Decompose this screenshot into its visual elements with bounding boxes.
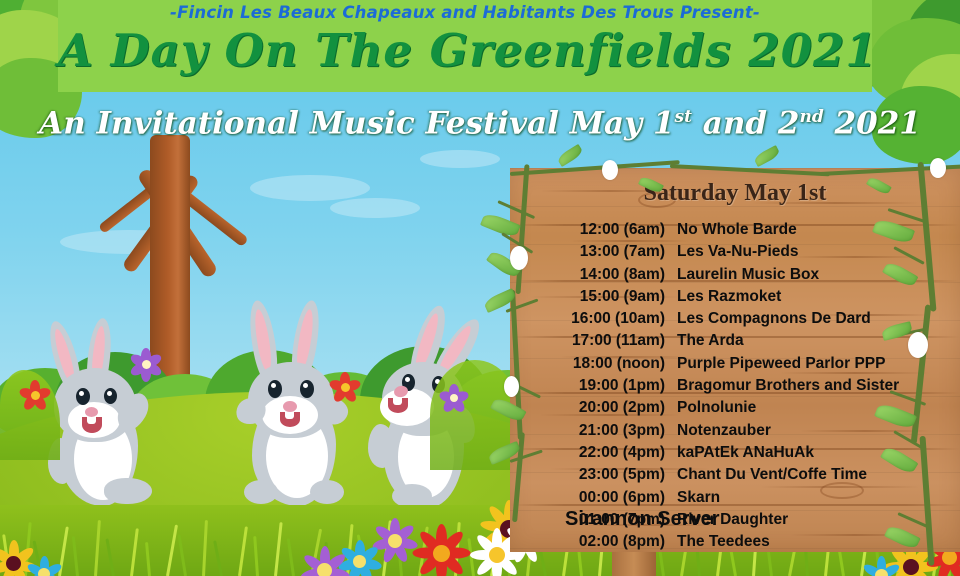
schedule-time: 23:00 (5pm) xyxy=(510,464,665,486)
page-title: A Day On The Greenfields 2021 xyxy=(58,22,872,80)
subtitle-pre: An Invitational Music Festival May 1 xyxy=(39,105,674,141)
schedule-row: 22:00 (4pm)kaPAtEk ANaHuAk xyxy=(510,442,960,464)
schedule-band: Chant Du Vent/Coffe Time xyxy=(677,464,867,486)
cloud-2 xyxy=(330,198,420,218)
schedule-row: 00:00 (6pm)Skarn xyxy=(510,487,960,509)
flower-purple-bottom-2 xyxy=(300,546,350,576)
board-day-header: Saturday May 1st xyxy=(510,180,960,207)
flower-purple-mid xyxy=(440,384,468,412)
server-name: Sirannon Server xyxy=(565,508,720,531)
schedule-time: 18:00 (noon) xyxy=(510,353,665,375)
flower-red-mid xyxy=(330,372,360,402)
subtitle: An Invitational Music Festival May 1st a… xyxy=(0,97,960,143)
schedule-time: 13:00 (7am) xyxy=(510,241,665,263)
subtitle-mid: and 2 xyxy=(692,105,799,141)
schedule-band: Les Va-Nu-Pieds xyxy=(677,241,798,263)
schedule-band: The Teedees xyxy=(677,531,770,553)
schedule-time: 19:00 (1pm) xyxy=(510,375,665,397)
schedule-row: 12:00 (6am)No Whole Barde xyxy=(510,219,960,241)
schedule-band: Les Compagnons De Dard xyxy=(677,308,871,330)
schedule-row: 15:00 (9am)Les Razmoket xyxy=(510,286,960,308)
schedule-time: 17:00 (11am) xyxy=(510,330,665,352)
schedule-row: 23:00 (5pm)Chant Du Vent/Coffe Time xyxy=(510,464,960,486)
schedule-time: 02:00 (8pm) xyxy=(510,531,665,553)
schedule-band: Purple Pipeweed Parlor PPP xyxy=(677,353,885,375)
schedule-row: 02:00 (8pm)The Teedees xyxy=(510,531,960,553)
schedule-time: 14:00 (8am) xyxy=(510,264,665,286)
festival-poster: Saturday May 1st 12:00 (6am)No Whole Bar… xyxy=(0,0,960,576)
schedule-row: 21:00 (3pm)Notenzauber xyxy=(510,420,960,442)
schedule-row: 18:00 (noon)Purple Pipeweed Parlor PPP xyxy=(510,353,960,375)
schedule-band: The Arda xyxy=(677,330,744,352)
schedule-band: Skarn xyxy=(677,487,720,509)
flower-blue-right xyxy=(862,556,902,576)
schedule-time: 12:00 (6am) xyxy=(510,219,665,241)
subtitle-sup-2: nd xyxy=(799,107,823,127)
schedule-time: 15:00 (9am) xyxy=(510,286,665,308)
schedule-list: 12:00 (6am)No Whole Barde 13:00 (7am)Les… xyxy=(510,219,960,553)
flower-red-left xyxy=(20,380,50,410)
schedule-band: No Whole Barde xyxy=(677,219,797,241)
cloud-1 xyxy=(250,175,370,201)
subtitle-sup-1: st xyxy=(675,107,692,127)
schedule-row: 17:00 (11am)The Arda xyxy=(510,330,960,352)
schedule-time: 00:00 (6pm) xyxy=(510,487,665,509)
schedule-row: 13:00 (7am)Les Va-Nu-Pieds xyxy=(510,241,960,263)
schedule-time: 16:00 (10am) xyxy=(510,308,665,330)
schedule-time: 21:00 (3pm) xyxy=(510,420,665,442)
subtitle-post: 2021 xyxy=(824,105,921,141)
flower-red-bottom xyxy=(412,524,470,576)
presenters-line: -Fincin Les Beaux Chapeaux and Habitants… xyxy=(58,3,872,22)
schedule-row: 20:00 (2pm)Polnolunie xyxy=(510,397,960,419)
grass-tuft-right xyxy=(430,360,520,470)
schedule-time: 22:00 (4pm) xyxy=(510,442,665,464)
schedule-band: Laurelin Music Box xyxy=(677,264,819,286)
flower-purple-top xyxy=(130,348,162,380)
flower-blue-left-edge xyxy=(26,556,64,576)
schedule-band: Bragomur Brothers and Sister xyxy=(677,375,899,397)
schedule-time: 20:00 (2pm) xyxy=(510,397,665,419)
schedule-band: Notenzauber xyxy=(677,420,771,442)
schedule-band: Les Razmoket xyxy=(677,286,781,308)
schedule-row: 16:00 (10am)Les Compagnons De Dard xyxy=(510,308,960,330)
schedule-row: 14:00 (8am)Laurelin Music Box xyxy=(510,264,960,286)
schedule-band: kaPAtEk ANaHuAk xyxy=(677,442,814,464)
schedule-band: Polnolunie xyxy=(677,397,756,419)
schedule-row: 19:00 (1pm)Bragomur Brothers and Sister xyxy=(510,375,960,397)
